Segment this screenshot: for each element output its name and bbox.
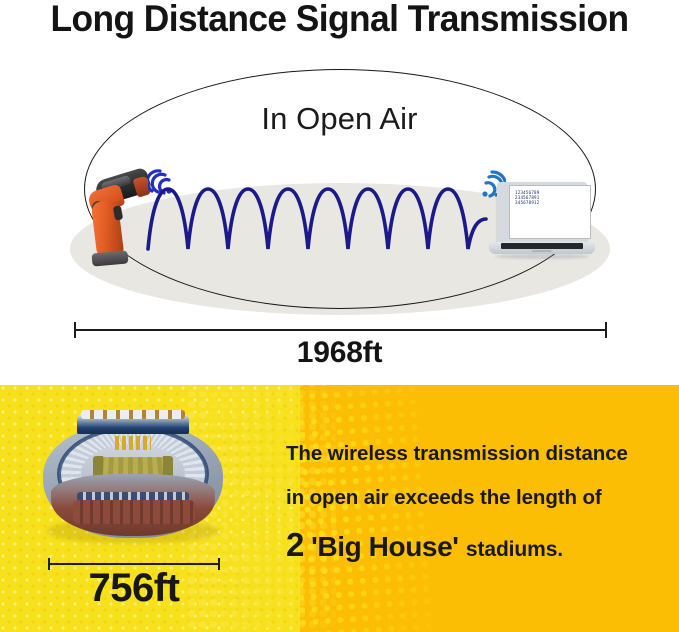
comparison-copy: The wireless transmission distance in op… [286, 432, 668, 577]
open-air-panel: Long Distance Signal Transmission In Ope… [0, 0, 679, 385]
laptop-trackpad [532, 250, 552, 252]
copy-line-1: The wireless transmission distance [286, 432, 668, 476]
laptop-lid: 123456789 234567891 345678912 [497, 182, 587, 244]
laptop-screen-codes: 123456789 234567891 345678912 [515, 190, 540, 206]
scanner-base [92, 250, 129, 266]
stadium-brick-facade [73, 500, 195, 524]
dimension-rule [74, 329, 607, 331]
laptop-shadow [495, 254, 589, 259]
open-air-label: In Open Air [0, 101, 679, 137]
laptop-keyboard [501, 243, 583, 249]
stadium-length-label: 756ft [0, 566, 268, 611]
copy-line-3: 2 'Big House' stadiums. [286, 520, 668, 577]
stadium-count: 2 [286, 526, 304, 563]
stadium-name: 'Big House' [304, 531, 466, 562]
scanner-trigger [113, 205, 123, 220]
copy-line-2: in open air exceeds the length of [286, 476, 668, 520]
laptop-screen: 123456789 234567891 345678912 [509, 185, 591, 239]
barcode-scanner-icon [78, 168, 156, 266]
open-air-distance-label: 1968ft [0, 336, 679, 370]
page-title: Long Distance Signal Transmission [15, 0, 663, 40]
stadium-field-logo [115, 436, 151, 450]
stadium-roof-boxes [81, 410, 185, 419]
laptop-icon: 123456789 234567891 345678912 [489, 182, 595, 268]
stadium-dimension-rule [48, 563, 220, 565]
sine-wave-icon [146, 175, 488, 260]
copy-tail: stadiums. [466, 538, 563, 561]
stadium-icon [33, 400, 233, 550]
